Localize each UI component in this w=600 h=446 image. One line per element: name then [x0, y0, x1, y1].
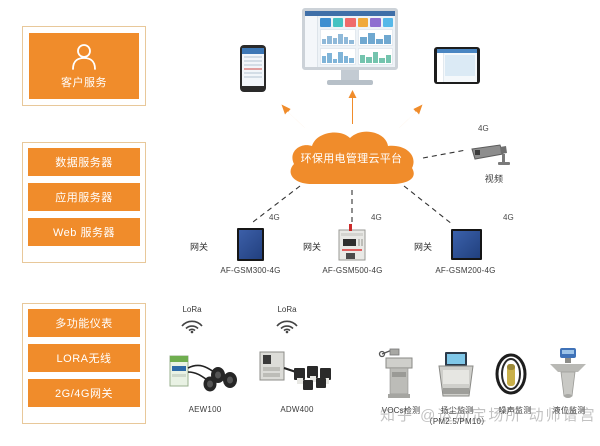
sensor-dust-image	[433, 352, 477, 405]
dashboard-cards-bottom	[320, 48, 393, 65]
gateway-device-af-gsm200	[451, 229, 482, 260]
monitor-screen	[302, 8, 398, 70]
gateway-1-4g-tag: 4G	[269, 213, 280, 222]
gateway-3-4g-tag: 4G	[503, 213, 514, 222]
gateway-1-side-label: 网关	[190, 240, 208, 253]
person-icon	[69, 43, 99, 71]
cloud-platform[interactable]: 环保用电管理云平台	[282, 126, 421, 188]
lora-label-1: LoRa	[178, 305, 206, 314]
sensor-noise-image	[492, 352, 530, 401]
monitor-dashboard	[318, 16, 395, 67]
monitor-neck	[341, 70, 359, 80]
cloud-platform-label: 环保用电管理云平台	[282, 150, 421, 166]
gateway-device-af-gsm300	[237, 228, 264, 261]
lora-signal-icon-2	[273, 314, 301, 332]
lora-tag-1: LoRa	[178, 305, 206, 337]
desktop-monitor	[302, 8, 398, 92]
camera-4g-tag: 4G	[478, 124, 489, 133]
server-item-application[interactable]: 应用服务器	[28, 183, 140, 211]
device-item-multifunction-meter[interactable]: 多功能仪表	[28, 309, 140, 337]
server-item-web[interactable]: Web 服务器	[28, 218, 140, 246]
sensor-level-image	[548, 348, 588, 403]
gateway-3-side-label: 网关	[414, 240, 432, 253]
device-item-2g4g-gateway[interactable]: 2G/4G网关	[28, 379, 140, 407]
lora-signal-icon-1	[178, 314, 206, 332]
customer-service-label: 客户服务	[61, 74, 107, 90]
gateway-1-model: AF-GSM300-4G	[203, 266, 298, 275]
watermark: 知乎 @运动定场所 动师谱宫	[380, 404, 598, 430]
diagram-canvas: 客户服务 数据服务器 应用服务器 Web 服务器 多功能仪表 LORA无线 2G…	[0, 0, 600, 446]
video-camera-icon	[470, 142, 516, 168]
sensor-adw400-image	[258, 350, 340, 401]
server-item-data[interactable]: 数据服务器	[28, 148, 140, 176]
cloud-to-client-arrows	[282, 90, 423, 128]
lora-label-2: LoRa	[273, 305, 301, 314]
monitor-base	[327, 80, 373, 85]
tablet-device	[434, 47, 480, 84]
dashboard-cards-top	[320, 29, 393, 46]
phone-screen	[242, 48, 264, 86]
sensor-vocs-image	[378, 348, 420, 405]
sensor-aew100-label: AEW100	[170, 405, 240, 414]
dashboard-tiles	[320, 18, 393, 27]
monitor-sidebar	[305, 16, 318, 67]
gateway-2-4g-tag: 4G	[371, 213, 382, 222]
panel-customer-service[interactable]: 客户服务	[22, 26, 146, 106]
customer-service-box: 客户服务	[29, 33, 139, 99]
gateway-device-af-gsm500	[338, 224, 366, 262]
gateway-2-side-label: 网关	[303, 240, 321, 253]
panel-field-devices[interactable]: 多功能仪表 LORA无线 2G/4G网关	[22, 303, 146, 424]
device-item-lora-wireless[interactable]: LORA无线	[28, 344, 140, 372]
tablet-screen	[437, 49, 477, 82]
gateway-3-model: AF-GSM200-4G	[418, 266, 513, 275]
lora-tag-2: LoRa	[273, 305, 301, 337]
gateway-2-model: AF-GSM500-4G	[305, 266, 400, 275]
mobile-phone	[240, 45, 266, 92]
camera-label: 视频	[466, 172, 522, 185]
panel-servers[interactable]: 数据服务器 应用服务器 Web 服务器	[22, 142, 146, 263]
sensor-adw400-label: ADW400	[262, 405, 332, 414]
sensor-aew100-image	[168, 352, 244, 401]
